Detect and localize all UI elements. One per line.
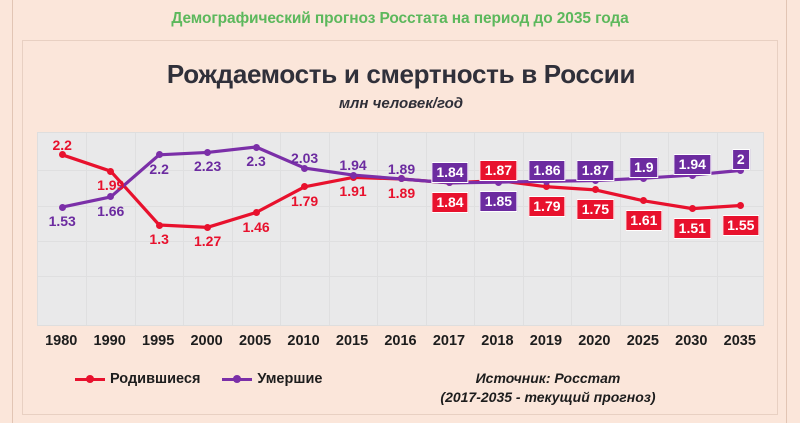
- chart-source-note: Источник: Росстат (2017-2035 - текущий п…: [383, 369, 713, 407]
- x-axis-tick-label: 1980: [45, 333, 77, 349]
- chart-point-label: 1.84: [431, 192, 468, 213]
- chart-data-point: [204, 224, 211, 231]
- chart-point-label: 1.87: [480, 160, 517, 181]
- legend-item[interactable]: Умершие: [222, 371, 322, 387]
- legend-item-label: Умершие: [257, 371, 322, 387]
- chart-point-label: 1.89: [388, 186, 415, 200]
- page-header-title: Демографический прогноз Росстата на пери…: [0, 10, 800, 28]
- chart-card: Рождаемость и смертность в России млн че…: [22, 40, 778, 415]
- x-axis-tick-label: 1995: [142, 333, 174, 349]
- page-frame-rule-left: [12, 0, 13, 423]
- infographic-page: Демографический прогноз Росстата на пери…: [0, 0, 800, 423]
- chart-point-label: 1.3: [149, 232, 168, 246]
- chart-subtitle: млн человек/год: [23, 95, 779, 112]
- chart-point-label: 1.79: [291, 194, 318, 208]
- x-axis-tick-label: 2020: [578, 333, 610, 349]
- chart-data-point: [689, 205, 696, 212]
- x-axis-tick-label: 1990: [94, 333, 126, 349]
- x-axis-tick-label: 2000: [190, 333, 222, 349]
- page-frame-rule-right: [786, 0, 787, 423]
- x-axis-tick-label: 2010: [287, 333, 319, 349]
- chart-point-label: 1.99: [97, 178, 124, 192]
- chart-point-label: 1.79: [528, 196, 565, 217]
- chart-point-label: 1.89: [388, 162, 415, 176]
- x-axis-tick-label: 2015: [336, 333, 368, 349]
- chart-data-point: [253, 209, 260, 216]
- x-axis-tick-label: 2030: [675, 333, 707, 349]
- legend-item[interactable]: Родившиеся: [75, 371, 200, 387]
- chart-data-point: [59, 204, 66, 211]
- chart-point-label: 1.91: [339, 184, 366, 198]
- line-marker-icon: [75, 374, 105, 384]
- chart-data-point: [107, 168, 114, 175]
- legend-item-label: Родившиеся: [110, 371, 200, 387]
- chart-point-label: 1.53: [49, 214, 76, 228]
- x-axis-tick-label: 2035: [724, 333, 756, 349]
- chart-point-label: 1.46: [242, 220, 269, 234]
- chart-point-label: 2.03: [291, 151, 318, 165]
- chart-point-label: 1.86: [528, 160, 565, 181]
- x-axis-tick-label: 2017: [433, 333, 465, 349]
- chart-point-label: 1.66: [97, 204, 124, 218]
- x-axis-tick-label: 2019: [530, 333, 562, 349]
- x-axis-tick-label: 2018: [481, 333, 513, 349]
- chart-data-point: [156, 222, 163, 229]
- chart-point-label: 2: [732, 149, 750, 170]
- chart-point-label: 1.27: [194, 234, 221, 248]
- x-axis-tick-label: 2016: [384, 333, 416, 349]
- chart-point-label: 1.75: [577, 199, 614, 220]
- chart-point-label: 2.2: [149, 162, 168, 176]
- chart-point-label: 1.9: [629, 157, 658, 178]
- chart-title: Рождаемость и смертность в России: [23, 59, 779, 90]
- source-line-2: (2017-2035 - текущий прогноз): [383, 388, 713, 407]
- chart-point-label: 2.23: [194, 159, 221, 173]
- chart-x-axis: 1980199019952000200520102015201620172018…: [37, 333, 764, 355]
- chart-point-label: 1.51: [674, 218, 711, 239]
- chart-point-label: 1.85: [480, 191, 517, 212]
- chart-point-label: 2.3: [246, 154, 265, 168]
- chart-point-label: 1.94: [674, 154, 711, 175]
- line-marker-icon: [222, 374, 252, 384]
- chart-point-label: 1.55: [722, 215, 759, 236]
- chart-point-label: 1.61: [625, 210, 662, 231]
- x-axis-tick-label: 2005: [239, 333, 271, 349]
- chart-data-point: [253, 144, 260, 151]
- x-axis-tick-label: 2025: [627, 333, 659, 349]
- chart-point-label: 1.84: [431, 162, 468, 183]
- chart-point-label: 1.87: [577, 160, 614, 181]
- chart-legend: РодившиесяУмершие: [75, 371, 322, 387]
- chart-plot-area: 2.21.991.31.271.461.791.911.891.841.871.…: [37, 132, 764, 326]
- source-line-1: Источник: Росстат: [383, 369, 713, 388]
- chart-point-label: 1.94: [339, 158, 366, 172]
- chart-data-point: [156, 151, 163, 158]
- chart-point-label: 2.2: [52, 138, 71, 152]
